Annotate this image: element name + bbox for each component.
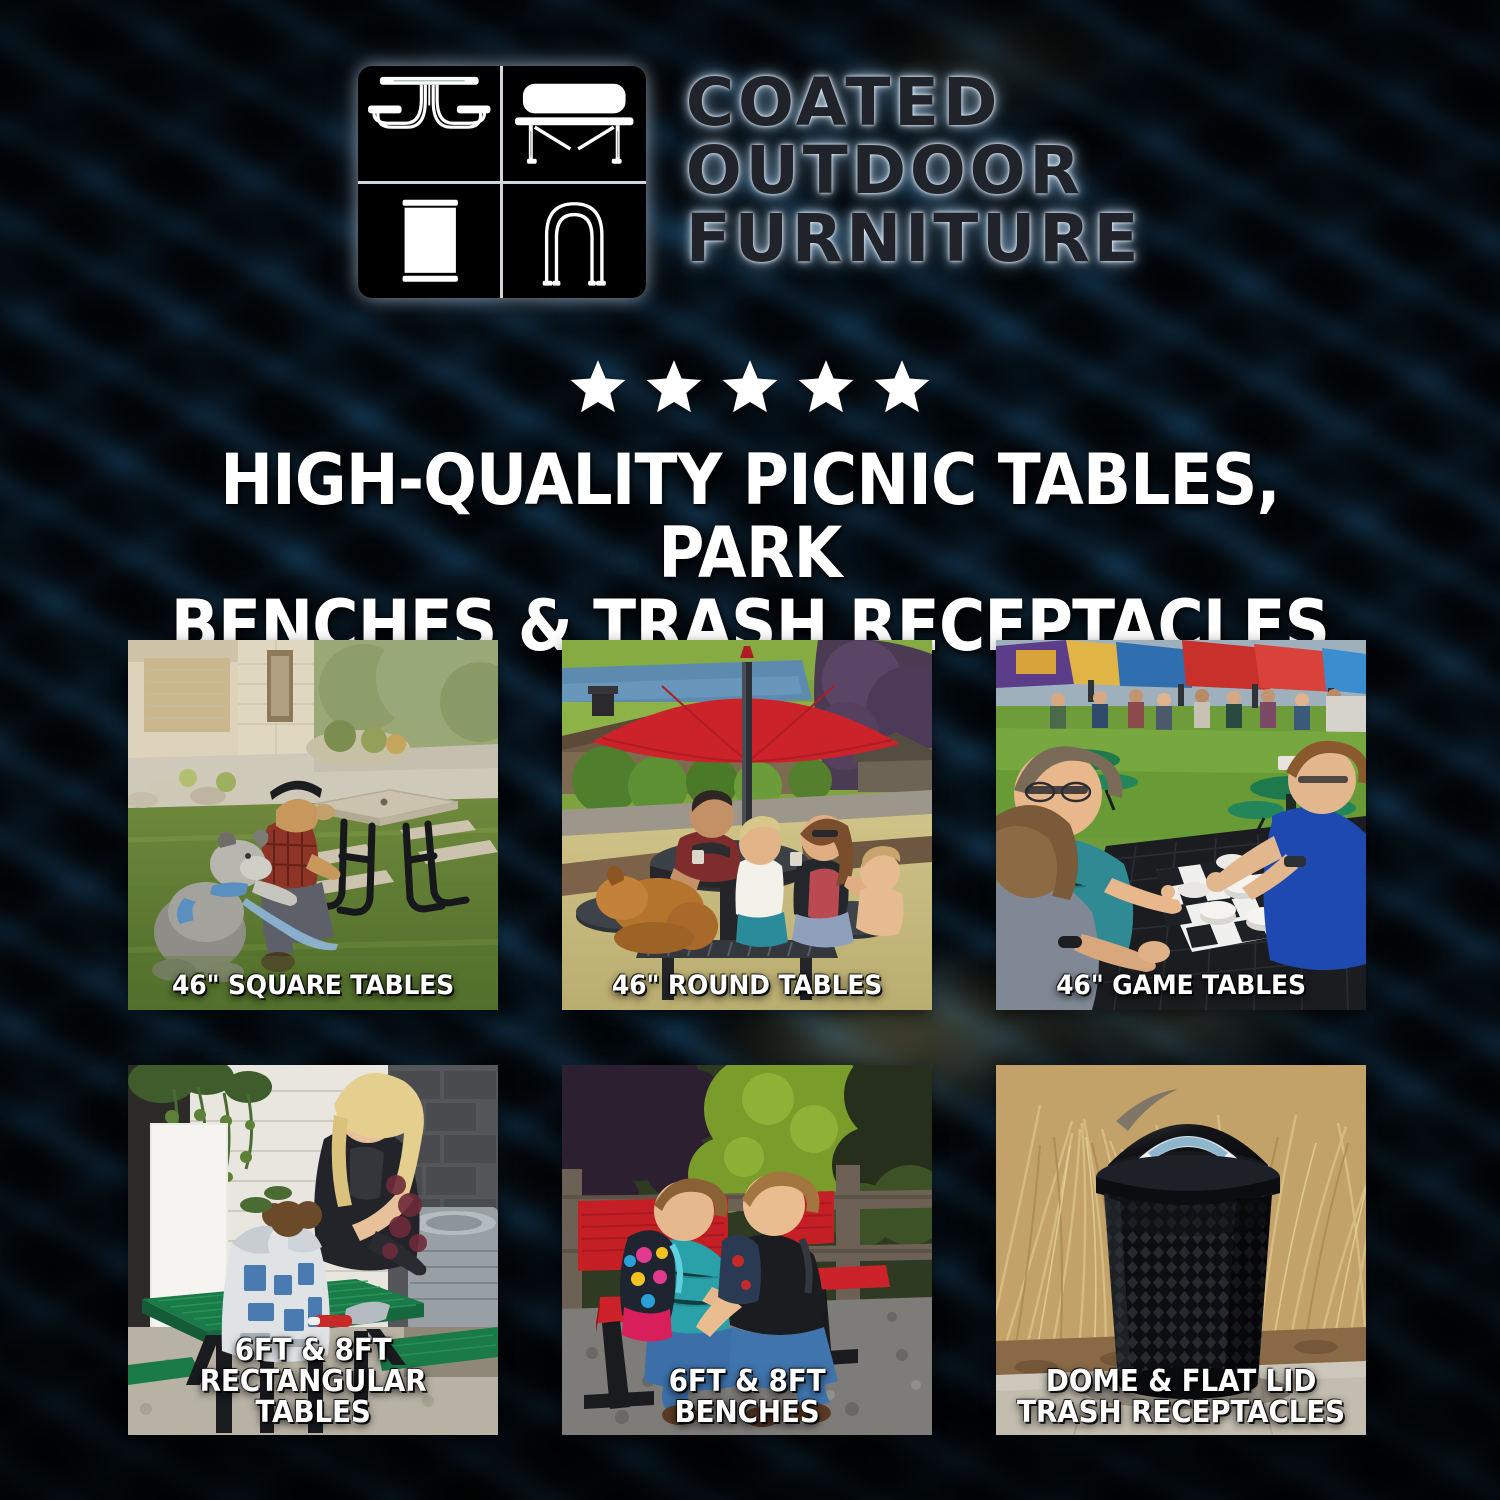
brand-line-2: OUTDOOR bbox=[686, 138, 1142, 204]
page-title: HIGH-QUALITY PICNIC TABLES, PARK BENCHES… bbox=[138, 444, 1362, 662]
product-tile-square-tables[interactable]: 46" SQUARE TABLES bbox=[128, 640, 498, 1010]
star-icon bbox=[642, 356, 706, 418]
star-icon bbox=[566, 356, 630, 418]
flat-lid-receptacle-icon bbox=[358, 184, 501, 299]
product-tile-game-tables[interactable]: 46" GAME TABLES bbox=[996, 640, 1366, 1010]
star-icon bbox=[794, 356, 858, 418]
brand-wordmark: COATED OUTDOOR FURNITURE bbox=[686, 66, 1142, 272]
brand-line-3: FURNITURE bbox=[686, 206, 1142, 272]
product-photo-grid: 46" SQUARE TABLES bbox=[128, 640, 1372, 1440]
product-tile-rectangular-tables[interactable]: 6FT & 8FT RECTANGULAR TABLES bbox=[128, 1065, 498, 1435]
star-icon bbox=[718, 356, 782, 418]
product-caption: 6FT & 8FT BENCHES bbox=[575, 1367, 919, 1429]
company-logo-mark bbox=[358, 66, 646, 298]
star-rating bbox=[0, 356, 1500, 418]
dome-lid-receptacle-icon bbox=[503, 184, 646, 299]
product-tile-trash-receptacles[interactable]: DOME & FLAT LID TRASH RECEPTACLES bbox=[996, 1065, 1366, 1435]
bench-side-icon bbox=[503, 66, 646, 181]
picnic-table-icon bbox=[358, 66, 501, 181]
brand-header: COATED OUTDOOR FURNITURE bbox=[0, 66, 1500, 298]
ad-banner: COATED OUTDOOR FURNITURE HIGH-QUALITY PI… bbox=[0, 0, 1500, 1500]
product-tile-round-tables[interactable]: 46" ROUND TABLES bbox=[562, 640, 932, 1010]
product-caption: 46" GAME TABLES bbox=[1009, 972, 1353, 1000]
star-icon bbox=[870, 356, 934, 418]
product-caption: 46" ROUND TABLES bbox=[575, 972, 919, 1000]
product-caption: 46" SQUARE TABLES bbox=[141, 972, 485, 1000]
product-tile-benches[interactable]: 6FT & 8FT BENCHES bbox=[562, 1065, 932, 1435]
product-caption: 6FT & 8FT RECTANGULAR TABLES bbox=[141, 1336, 485, 1429]
product-caption: DOME & FLAT LID TRASH RECEPTACLES bbox=[1009, 1367, 1353, 1429]
brand-line-1: COATED bbox=[686, 70, 1142, 136]
